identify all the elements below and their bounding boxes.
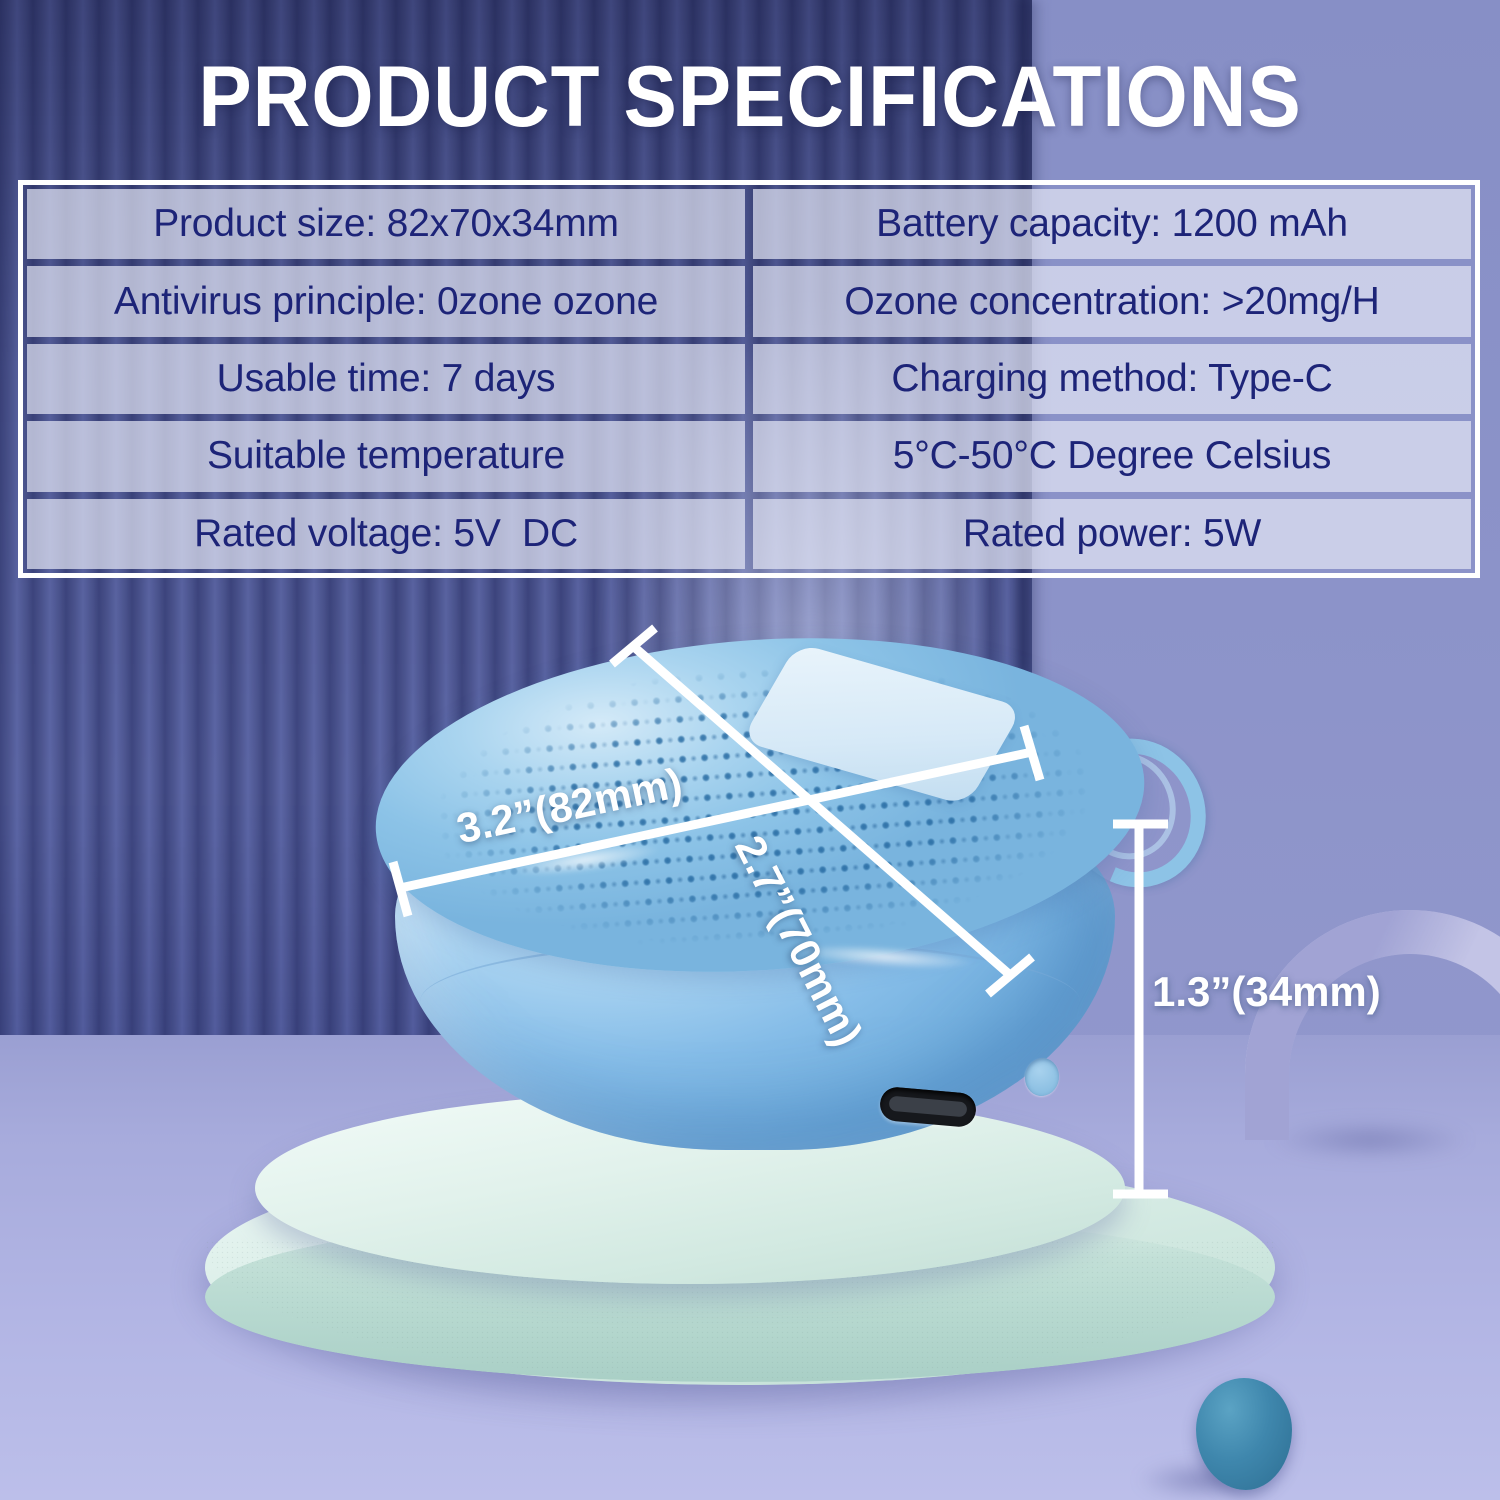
spec-row-battery-capacity: Battery capacity: 1200 mAh <box>753 189 1471 259</box>
decorative-pebble <box>1196 1378 1292 1490</box>
spec-row-rated-power: Rated power: 5W <box>753 499 1471 569</box>
spec-row-antivirus-principle: Antivirus principle: 0zone ozone <box>27 266 745 336</box>
spec-row-usable-time: Usable time: 7 days <box>27 344 745 414</box>
product-specification-image: 3.2”(82mm) 2.7”(70mm) 1.3”(34mm) PRODUCT… <box>0 0 1500 1500</box>
spec-column-left: Product size: 82x70x34mm Antivirus princ… <box>27 189 745 569</box>
page-title: PRODUCT SPECIFICATIONS <box>53 48 1448 147</box>
spec-row-charging-method: Charging method: Type-C <box>753 344 1471 414</box>
specification-table: Product size: 82x70x34mm Antivirus princ… <box>18 180 1480 578</box>
spec-column-right: Battery capacity: 1200 mAh Ozone concent… <box>753 189 1471 569</box>
spec-row-ozone-concentration: Ozone concentration: >20mg/H <box>753 266 1471 336</box>
spec-row-suitable-temperature: Suitable temperature <box>27 421 745 491</box>
spec-row-product-size: Product size: 82x70x34mm <box>27 189 745 259</box>
spec-row-rated-voltage: Rated voltage: 5V DC <box>27 499 745 569</box>
dimension-label-height: 1.3”(34mm) <box>1152 968 1381 1016</box>
spec-row-temperature-range: 5°C-50°C Degree Celsius <box>753 421 1471 491</box>
